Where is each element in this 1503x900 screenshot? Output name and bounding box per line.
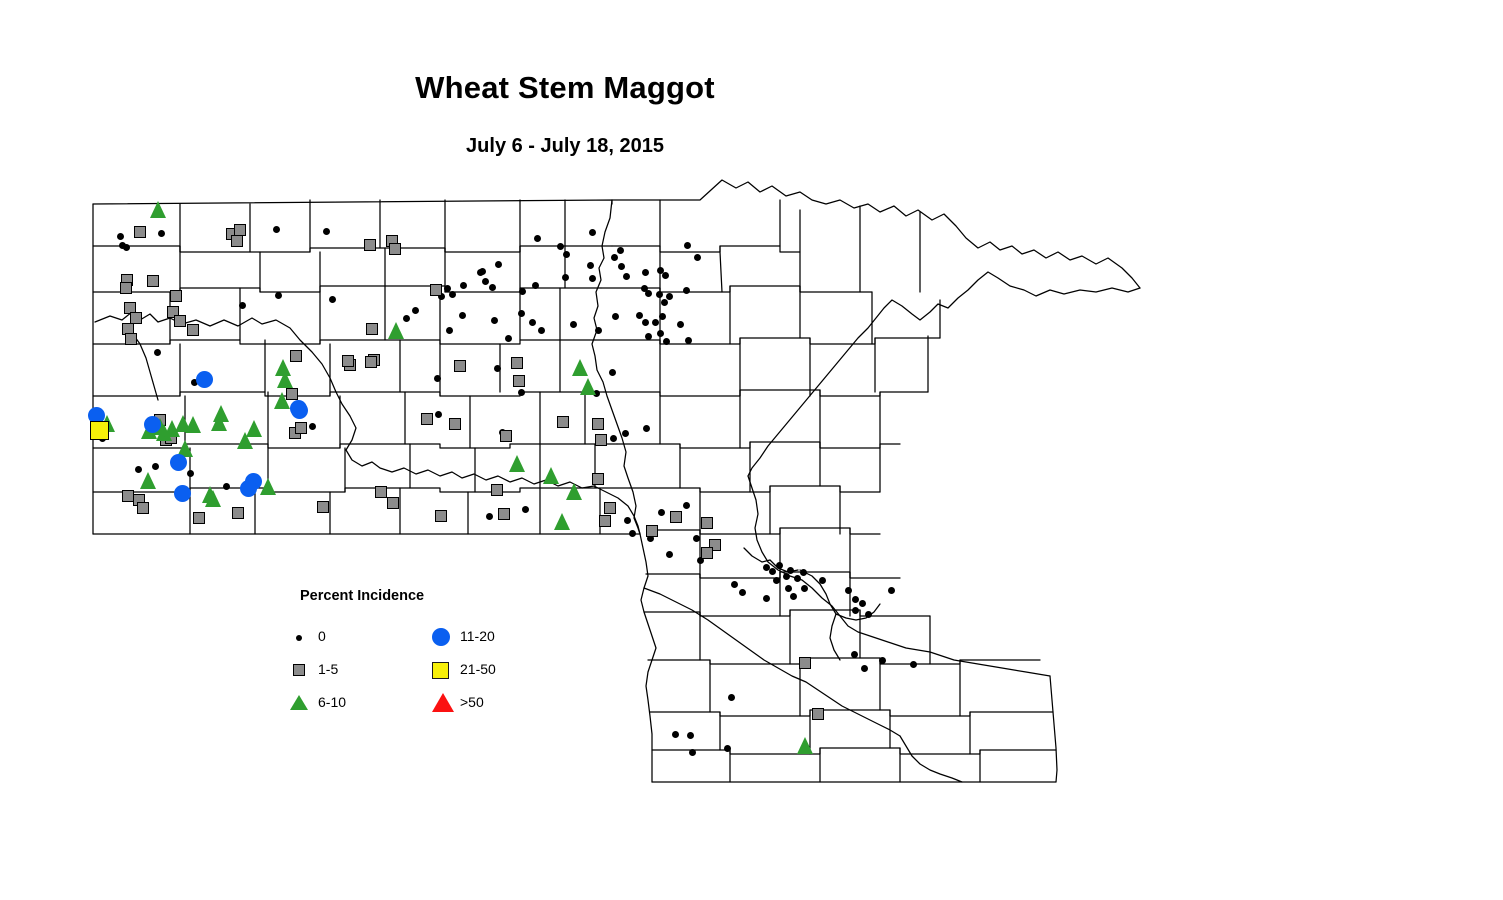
map-point-11-20 bbox=[196, 371, 213, 388]
map-point-1-5 bbox=[232, 507, 244, 519]
map-point-0 bbox=[529, 319, 536, 326]
map-point-1-5 bbox=[513, 375, 525, 387]
map-point-0 bbox=[645, 290, 652, 297]
map-point-0 bbox=[773, 577, 780, 584]
map-point-0 bbox=[587, 262, 594, 269]
legend-label: 0 bbox=[318, 628, 326, 644]
map-point-0 bbox=[677, 321, 684, 328]
green-triangle-icon bbox=[290, 695, 308, 710]
map-point-0 bbox=[851, 651, 858, 658]
map-point-1-5 bbox=[187, 324, 199, 336]
map-point-0 bbox=[323, 228, 330, 235]
map-point-21-50 bbox=[90, 421, 109, 440]
map-point-1-5 bbox=[491, 484, 503, 496]
map-point-0 bbox=[683, 287, 690, 294]
map-point-6-10 bbox=[509, 455, 525, 472]
map-point-1-5 bbox=[498, 508, 510, 520]
map-point-6-10 bbox=[246, 420, 262, 437]
map-point-0 bbox=[852, 596, 859, 603]
map-point-0 bbox=[158, 230, 165, 237]
map-point-0 bbox=[563, 251, 570, 258]
map-point-1-5 bbox=[137, 502, 149, 514]
map-point-0 bbox=[693, 535, 700, 542]
legend-label: 11-20 bbox=[460, 628, 495, 644]
map-point-6-10 bbox=[275, 359, 291, 376]
map-point-6-10 bbox=[554, 513, 570, 530]
map-point-0 bbox=[865, 611, 872, 618]
map-point-0 bbox=[636, 312, 643, 319]
map-point-0 bbox=[731, 581, 738, 588]
map-point-0 bbox=[888, 587, 895, 594]
map-point-1-5 bbox=[295, 422, 307, 434]
map-point-0 bbox=[694, 254, 701, 261]
map-point-0 bbox=[624, 517, 631, 524]
map-point-1-5 bbox=[670, 511, 682, 523]
map-point-1-5 bbox=[592, 418, 604, 430]
map-point-0 bbox=[534, 235, 541, 242]
legend-label: >50 bbox=[460, 694, 484, 710]
map-point-1-5 bbox=[147, 275, 159, 287]
map-point-0 bbox=[769, 568, 776, 575]
map-point-0 bbox=[879, 657, 886, 664]
legend-item-21-50: 21-50 bbox=[432, 659, 552, 681]
map-page: Wheat Stem Maggot July 6 - July 18, 2015 bbox=[0, 0, 1503, 900]
map-point-1-5 bbox=[701, 547, 713, 559]
map-point-1-5 bbox=[375, 486, 387, 498]
legend-item-6-10: 6-10 bbox=[290, 692, 410, 714]
map-point-11-20 bbox=[291, 402, 308, 419]
map-point-0 bbox=[494, 365, 501, 372]
map-point-1-5 bbox=[120, 282, 132, 294]
map-point-0 bbox=[672, 731, 679, 738]
map-point-0 bbox=[482, 278, 489, 285]
map-container bbox=[0, 0, 1503, 900]
map-point-0 bbox=[683, 502, 690, 509]
map-point-1-5 bbox=[290, 350, 302, 362]
map-point-0 bbox=[123, 244, 130, 251]
map-point-0 bbox=[562, 274, 569, 281]
map-point-6-10 bbox=[185, 416, 201, 433]
map-point-1-5 bbox=[365, 356, 377, 368]
map-point-0 bbox=[412, 307, 419, 314]
map-point-0 bbox=[787, 567, 794, 574]
legend-item-gt50: >50 bbox=[432, 692, 552, 714]
map-point-1-5 bbox=[193, 512, 205, 524]
map-point-6-10 bbox=[211, 414, 227, 431]
map-point-0 bbox=[794, 575, 801, 582]
map-point-0 bbox=[491, 317, 498, 324]
map-point-0 bbox=[518, 389, 525, 396]
map-point-11-20 bbox=[170, 454, 187, 471]
map-point-1-5 bbox=[364, 239, 376, 251]
map-point-1-5 bbox=[799, 657, 811, 669]
map-point-0 bbox=[486, 513, 493, 520]
map-point-0 bbox=[684, 242, 691, 249]
map-point-0 bbox=[117, 233, 124, 240]
map-point-0 bbox=[611, 254, 618, 261]
map-point-6-10 bbox=[797, 737, 813, 754]
map-point-0 bbox=[910, 661, 917, 668]
map-point-0 bbox=[557, 243, 564, 250]
map-point-0 bbox=[629, 530, 636, 537]
map-point-0 bbox=[154, 349, 161, 356]
map-point-0 bbox=[187, 470, 194, 477]
map-point-0 bbox=[663, 338, 670, 345]
map-point-0 bbox=[801, 585, 808, 592]
map-point-0 bbox=[728, 694, 735, 701]
map-point-11-20 bbox=[240, 480, 257, 497]
map-point-11-20 bbox=[144, 416, 161, 433]
map-point-1-5 bbox=[500, 430, 512, 442]
map-point-1-5 bbox=[125, 333, 137, 345]
map-point-1-5 bbox=[599, 515, 611, 527]
map-point-0 bbox=[623, 273, 630, 280]
map-point-1-5 bbox=[317, 501, 329, 513]
map-point-0 bbox=[519, 288, 526, 295]
map-point-0 bbox=[662, 272, 669, 279]
map-point-0 bbox=[239, 302, 246, 309]
map-point-0 bbox=[643, 425, 650, 432]
map-point-1-5 bbox=[604, 502, 616, 514]
map-point-0 bbox=[589, 229, 596, 236]
map-point-0 bbox=[642, 319, 649, 326]
map-point-0 bbox=[152, 463, 159, 470]
map-point-1-5 bbox=[511, 357, 523, 369]
map-point-0 bbox=[434, 375, 441, 382]
map-point-6-10 bbox=[274, 392, 290, 409]
map-point-0 bbox=[610, 435, 617, 442]
map-point-1-5 bbox=[449, 418, 461, 430]
map-point-1-5 bbox=[646, 525, 658, 537]
map-point-1-5 bbox=[557, 416, 569, 428]
map-point-6-10 bbox=[580, 378, 596, 395]
map-point-6-10 bbox=[150, 201, 166, 218]
map-point-0 bbox=[845, 587, 852, 594]
map-point-0 bbox=[783, 573, 790, 580]
map-point-0 bbox=[570, 321, 577, 328]
gray-square-icon bbox=[293, 664, 305, 676]
map-point-0 bbox=[642, 269, 649, 276]
legend-label: 1-5 bbox=[318, 661, 338, 677]
map-point-0 bbox=[656, 291, 663, 298]
legend-item-1-5: 1-5 bbox=[290, 659, 410, 681]
map-point-0 bbox=[518, 310, 525, 317]
map-point-6-10 bbox=[566, 483, 582, 500]
map-point-1-5 bbox=[595, 434, 607, 446]
map-point-0 bbox=[446, 327, 453, 334]
blue-circle-icon bbox=[432, 628, 450, 646]
map-point-0 bbox=[275, 292, 282, 299]
map-point-0 bbox=[532, 282, 539, 289]
map-point-0 bbox=[659, 313, 666, 320]
map-point-1-5 bbox=[366, 323, 378, 335]
legend-label: 6-10 bbox=[318, 694, 346, 710]
map-point-0 bbox=[460, 282, 467, 289]
map-point-0 bbox=[309, 423, 316, 430]
map-point-0 bbox=[658, 509, 665, 516]
map-point-1-5 bbox=[342, 355, 354, 367]
map-point-6-10 bbox=[543, 467, 559, 484]
map-point-0 bbox=[403, 315, 410, 322]
map-point-0 bbox=[489, 284, 496, 291]
map-point-0 bbox=[609, 369, 616, 376]
map-point-0 bbox=[685, 337, 692, 344]
map-point-0 bbox=[273, 226, 280, 233]
map-point-1-5 bbox=[389, 243, 401, 255]
map-point-1-5 bbox=[231, 235, 243, 247]
map-point-0 bbox=[852, 607, 859, 614]
map-point-6-10 bbox=[388, 322, 404, 339]
map-point-0 bbox=[645, 333, 652, 340]
map-point-0 bbox=[776, 562, 783, 569]
state-county-map bbox=[0, 0, 1503, 900]
legend-title: Percent Incidence bbox=[300, 588, 424, 604]
map-point-1-5 bbox=[592, 473, 604, 485]
map-point-0 bbox=[477, 269, 484, 276]
red-triangle-icon bbox=[432, 693, 454, 712]
map-point-0 bbox=[790, 593, 797, 600]
map-point-0 bbox=[661, 299, 668, 306]
map-point-0 bbox=[785, 585, 792, 592]
map-point-0 bbox=[612, 313, 619, 320]
map-point-1-5 bbox=[421, 413, 433, 425]
map-point-0 bbox=[459, 312, 466, 319]
legend: Percent Incidence 01-56-1011-2021-50>50 bbox=[282, 588, 522, 718]
map-point-6-10 bbox=[202, 486, 218, 503]
map-point-0 bbox=[449, 291, 456, 298]
map-point-0 bbox=[538, 327, 545, 334]
map-point-0 bbox=[223, 483, 230, 490]
map-point-0 bbox=[622, 430, 629, 437]
map-point-0 bbox=[657, 330, 664, 337]
map-point-1-5 bbox=[454, 360, 466, 372]
map-point-0 bbox=[618, 263, 625, 270]
map-point-0 bbox=[435, 411, 442, 418]
map-point-0 bbox=[617, 247, 624, 254]
map-point-1-5 bbox=[430, 284, 442, 296]
map-point-6-10 bbox=[140, 472, 156, 489]
map-point-1-5 bbox=[387, 497, 399, 509]
map-point-1-5 bbox=[170, 290, 182, 302]
map-point-0 bbox=[652, 319, 659, 326]
map-point-1-5 bbox=[134, 226, 146, 238]
map-point-1-5 bbox=[701, 517, 713, 529]
legend-item-11-20: 11-20 bbox=[432, 626, 552, 648]
map-point-0 bbox=[739, 589, 746, 596]
map-point-0 bbox=[595, 327, 602, 334]
yellow-square-icon bbox=[432, 662, 449, 679]
black-dot-icon bbox=[296, 635, 302, 641]
map-point-0 bbox=[329, 296, 336, 303]
map-point-0 bbox=[444, 285, 451, 292]
map-point-0 bbox=[505, 335, 512, 342]
map-point-0 bbox=[800, 569, 807, 576]
map-point-1-5 bbox=[812, 708, 824, 720]
map-point-11-20 bbox=[174, 485, 191, 502]
map-point-1-5 bbox=[174, 315, 186, 327]
legend-item-0: 0 bbox=[290, 626, 410, 648]
map-point-0 bbox=[666, 551, 673, 558]
map-point-6-10 bbox=[260, 478, 276, 495]
map-point-0 bbox=[689, 749, 696, 756]
map-point-0 bbox=[687, 732, 694, 739]
map-point-6-10 bbox=[572, 359, 588, 376]
map-point-1-5 bbox=[435, 510, 447, 522]
map-point-0 bbox=[666, 293, 673, 300]
map-point-0 bbox=[522, 506, 529, 513]
map-point-0 bbox=[861, 665, 868, 672]
map-point-0 bbox=[763, 595, 770, 602]
map-point-0 bbox=[819, 577, 826, 584]
map-point-0 bbox=[724, 745, 731, 752]
map-point-0 bbox=[495, 261, 502, 268]
map-point-0 bbox=[589, 275, 596, 282]
map-point-0 bbox=[859, 600, 866, 607]
legend-label: 21-50 bbox=[460, 661, 496, 677]
